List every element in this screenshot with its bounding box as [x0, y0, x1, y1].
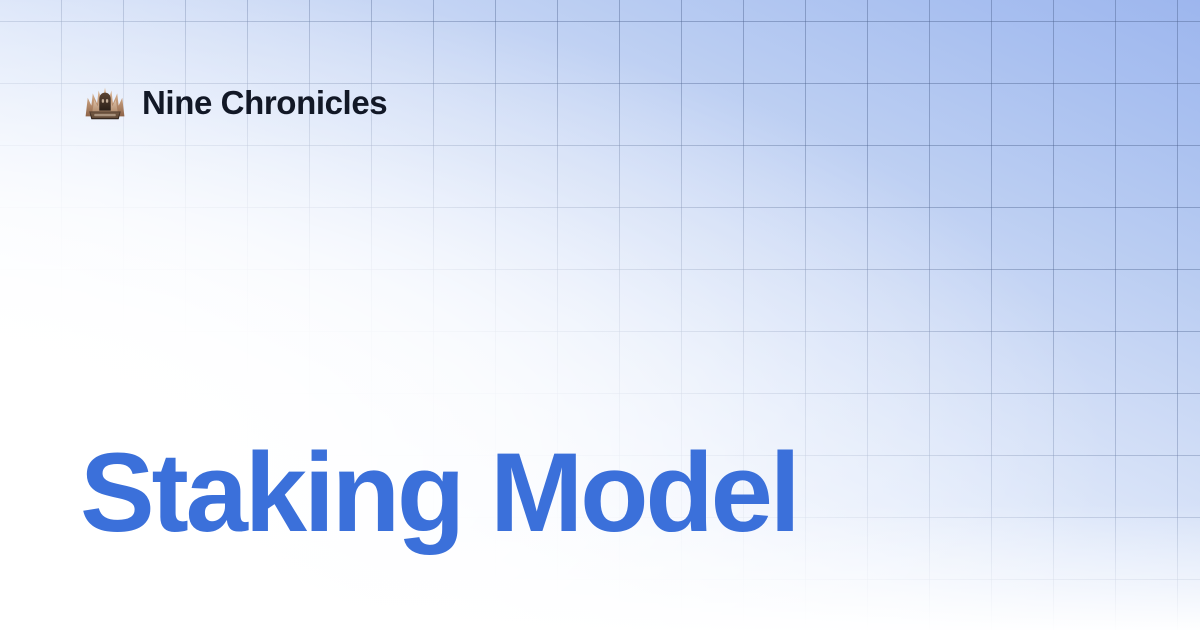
nine-chronicles-crest-icon: [82, 79, 128, 125]
og-card: Nine Chronicles Staking Model: [0, 0, 1200, 630]
card-content: Nine Chronicles Staking Model: [0, 0, 1200, 630]
brand-name: Nine Chronicles: [142, 86, 387, 119]
brand-lockup: Nine Chronicles: [82, 76, 387, 128]
page-title: Staking Model: [80, 437, 798, 549]
